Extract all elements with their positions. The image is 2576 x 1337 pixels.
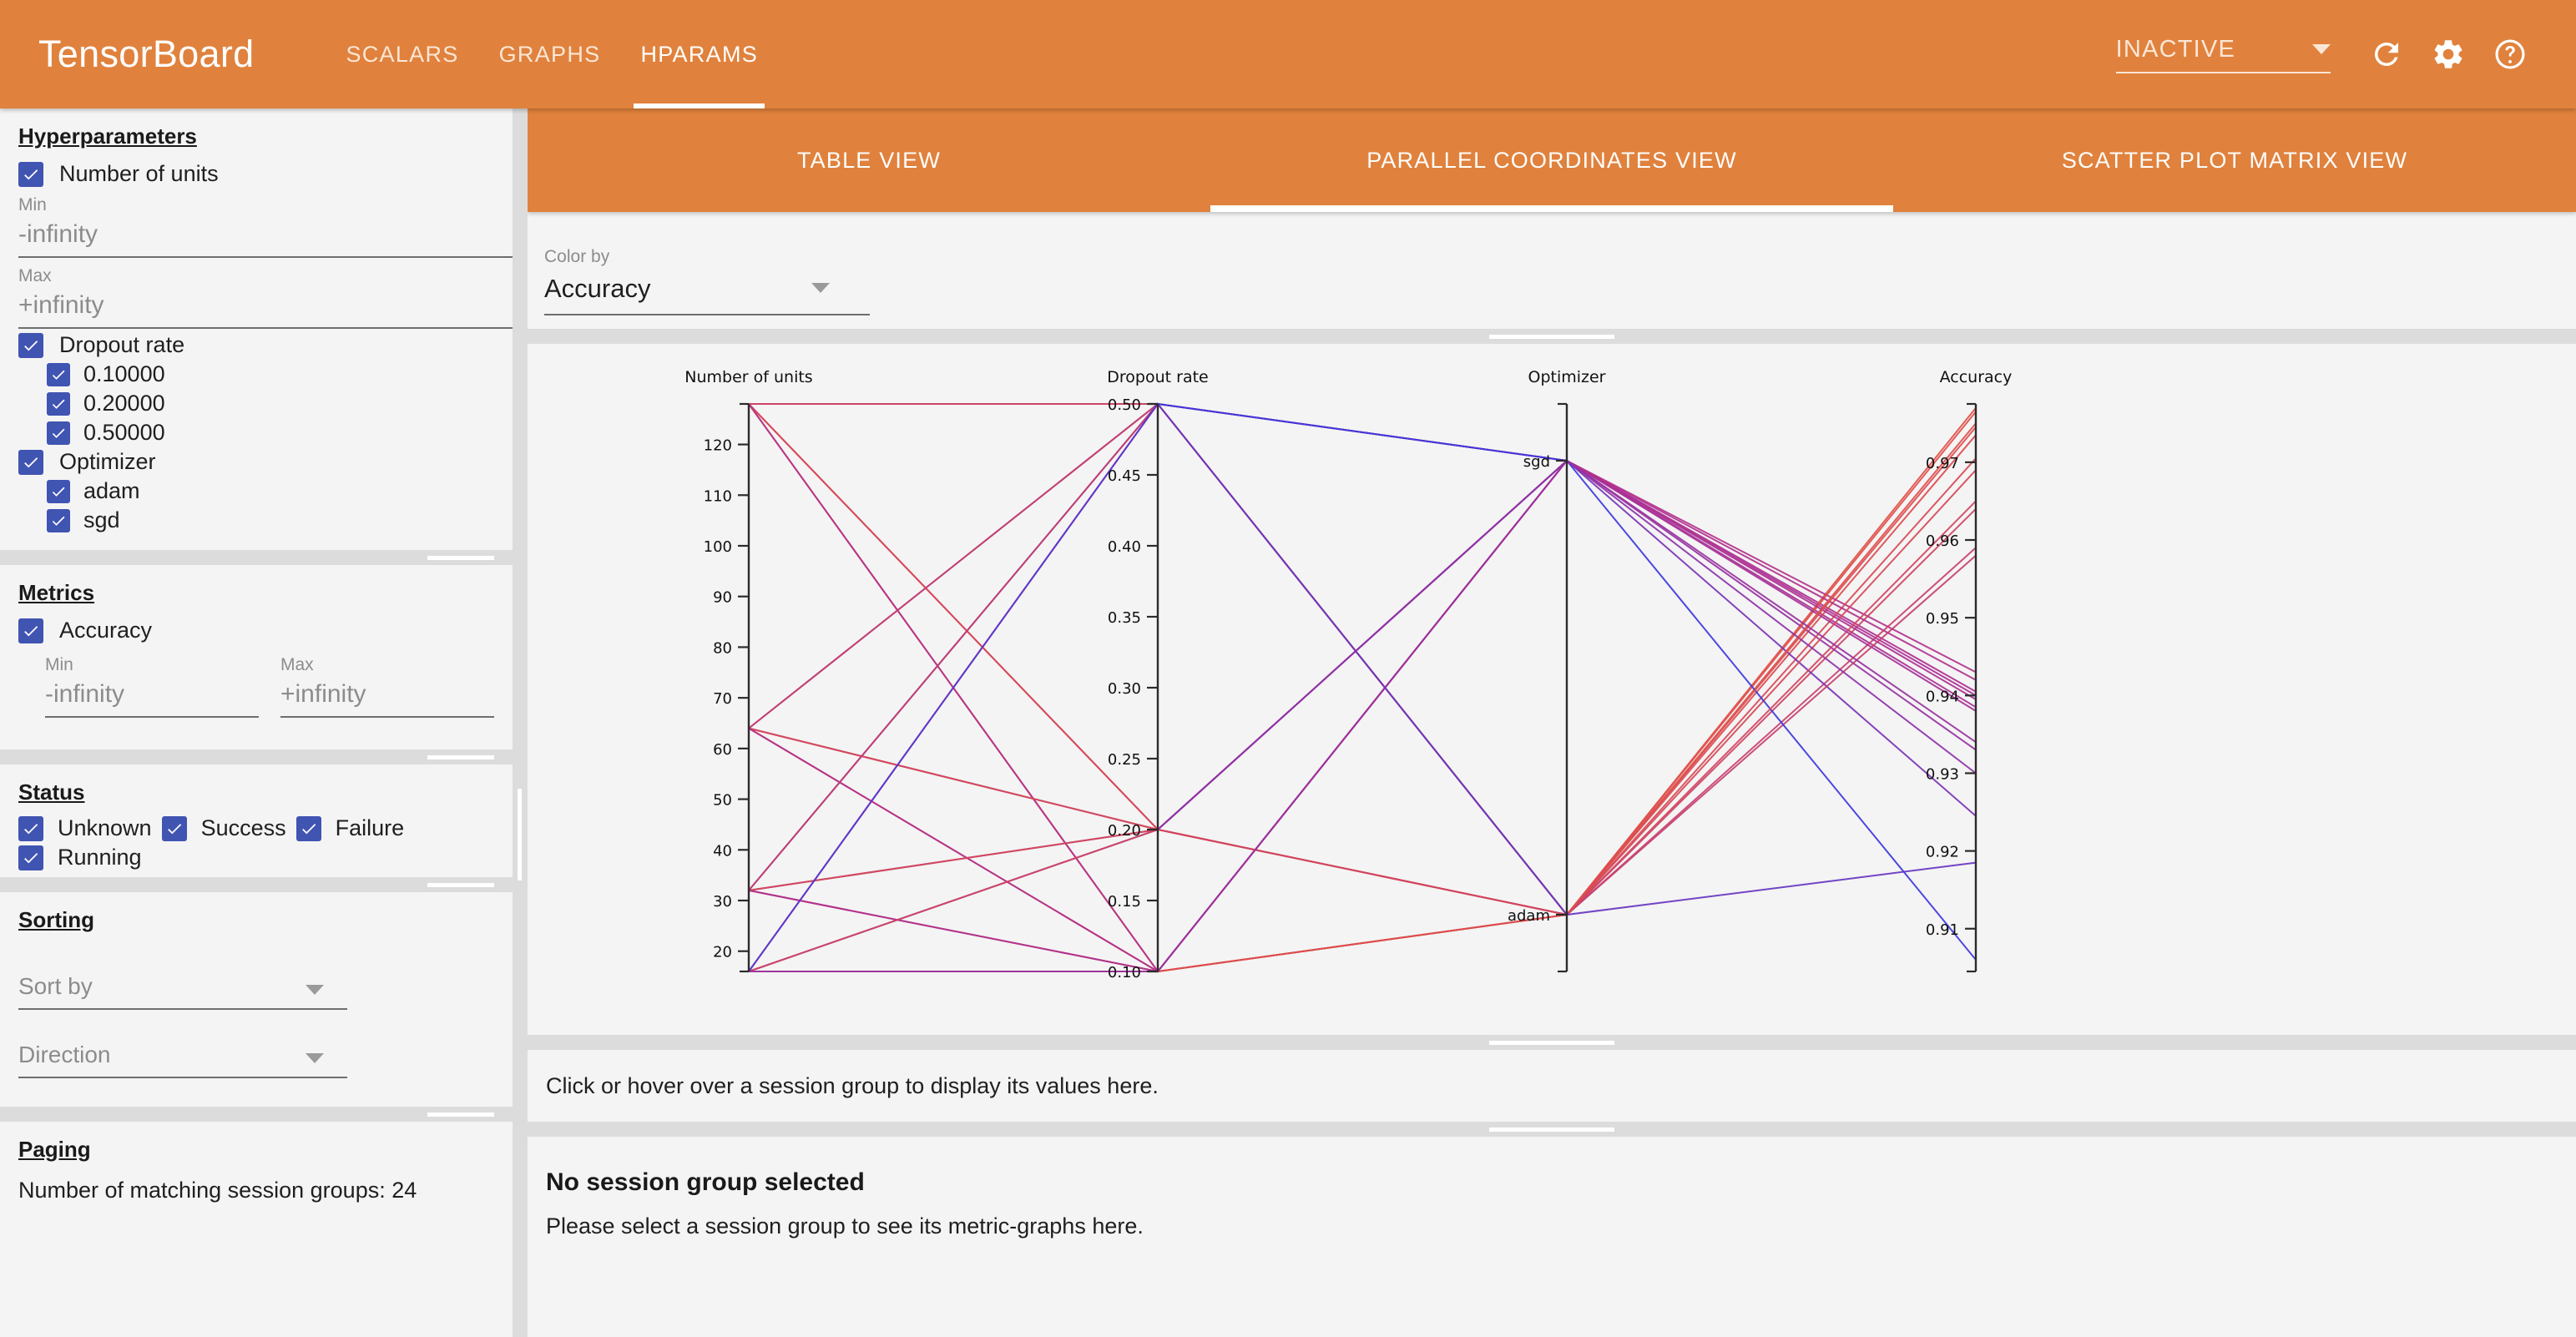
status-running[interactable]: Running [18, 845, 152, 870]
chevron-down-icon [2312, 44, 2331, 54]
checkbox-checked-icon[interactable] [18, 333, 43, 358]
pc-lines-group [749, 404, 1976, 971]
axis-title: Accuracy [1940, 368, 2013, 386]
axis-tick-label: 0.15 [1108, 893, 1141, 911]
app-brand-title: TensorBoard [38, 33, 254, 76]
accuracy-min-label: Min [45, 655, 259, 675]
checkbox-checked-icon[interactable] [47, 480, 70, 503]
main-nav-tabs: SCALARS GRAPHS HPARAMS [326, 0, 778, 108]
field-underline [18, 1008, 347, 1010]
hyperparameters-title: Hyperparameters [18, 124, 197, 149]
resize-grip [427, 556, 494, 560]
pc-line [749, 404, 1976, 830]
field-underline [18, 1077, 347, 1078]
direction-select[interactable]: Direction [18, 1042, 347, 1078]
color-by-label: Color by [544, 247, 870, 267]
status-label: Unknown [58, 815, 152, 841]
units-max-field[interactable]: Max +infinity [18, 266, 513, 329]
tab-scatter-plot-matrix-view[interactable]: SCATTER PLOT MATRIX VIEW [1893, 108, 2576, 212]
dropout-value-2[interactable]: 0.50000 [47, 420, 498, 446]
resize-grip [1489, 1128, 1614, 1132]
color-by-select[interactable]: Color by Accuracy [544, 247, 870, 315]
nav-tab-hparams[interactable]: HPARAMS [620, 0, 778, 108]
parallel-coordinates-chart[interactable]: Number of units2030405060708090100110120… [528, 344, 2576, 1035]
nav-tab-scalars[interactable]: SCALARS [326, 0, 478, 108]
session-group-heading: No session group selected [546, 1168, 2576, 1197]
pc-line [749, 404, 1976, 692]
checkbox-checked-icon[interactable] [47, 363, 70, 386]
checkbox-checked-icon[interactable] [18, 450, 43, 475]
status-failure[interactable]: Failure [296, 815, 415, 841]
paging-panel: Paging Number of matching session groups… [0, 1122, 513, 1203]
session-group-panel: No session group selected Please select … [528, 1137, 2576, 1317]
chevron-down-icon [306, 1053, 324, 1063]
field-underline [18, 256, 513, 258]
axis-title: Dropout rate [1107, 368, 1208, 386]
hparam-label: Dropout rate [59, 332, 184, 358]
accuracy-max-value: +infinity [280, 680, 494, 716]
units-max-value: +infinity [18, 291, 513, 327]
run-status-dropdown[interactable]: INACTIVE [2116, 36, 2331, 73]
panel-resize-handle[interactable] [0, 749, 513, 764]
color-by-value: Accuracy [544, 274, 870, 314]
axis-tick-label: 0.96 [1926, 532, 1959, 550]
accuracy-max-label: Max [280, 655, 494, 675]
top-bar-actions: INACTIVE [2116, 23, 2576, 85]
dropout-value-label: 0.50000 [83, 420, 165, 446]
hparam-label: Number of units [59, 161, 219, 187]
field-underline [18, 327, 513, 329]
optimizer-value-0[interactable]: adam [47, 478, 498, 504]
axis-tick-label: 0.25 [1108, 751, 1141, 769]
axis-tick-label: 0.10 [1108, 964, 1141, 981]
status-label: Failure [336, 815, 405, 841]
field-underline [45, 716, 259, 718]
pc-line [749, 423, 1976, 971]
axis-tick-label: 0.95 [1926, 610, 1959, 628]
sorting-title: Sorting [18, 907, 94, 933]
optimizer-value-1[interactable]: sgd [47, 507, 498, 533]
accuracy-min-field[interactable]: Min -infinity [45, 655, 259, 718]
axis-tick-label: 0.94 [1926, 688, 1959, 705]
units-max-label: Max [18, 266, 513, 286]
tab-parallel-coordinates-view[interactable]: PARALLEL COORDINATES VIEW [1210, 108, 1893, 212]
checkbox-checked-icon[interactable] [47, 421, 70, 445]
paging-title: Paging [18, 1137, 91, 1163]
axis-tick-label: 80 [713, 639, 732, 657]
session-values-panel: Click or hover over a session group to d… [528, 1050, 2576, 1122]
session-panel-resize-handle[interactable] [528, 1122, 2576, 1137]
gear-icon[interactable] [2417, 23, 2479, 85]
status-label: Running [58, 845, 142, 870]
axis-tick-label: 60 [713, 741, 732, 759]
resize-grip [427, 755, 494, 759]
metrics-panel: Metrics Accuracy Min -infinity Max +infi… [0, 565, 513, 749]
reload-icon[interactable] [2356, 23, 2417, 85]
resize-grip [518, 789, 522, 880]
checkbox-checked-icon[interactable] [296, 816, 321, 841]
pc-axis: Number of units2030405060708090100110120 [684, 368, 812, 971]
optimizer-value-label: adam [83, 478, 140, 504]
axis-tick-label: 90 [713, 589, 732, 607]
resize-grip [1489, 1041, 1614, 1045]
axis-tick-label: 0.91 [1926, 921, 1959, 939]
axis-tick-label: 0.20 [1108, 822, 1141, 840]
axis-tick-label: 0.97 [1926, 455, 1959, 472]
chart-panel-resize-handle[interactable] [528, 329, 2576, 344]
pc-line [749, 427, 1976, 971]
optimizer-value-label: sgd [83, 507, 120, 533]
axis-tick-label: 0.45 [1108, 467, 1141, 485]
panel-resize-handle[interactable] [0, 1107, 513, 1122]
axis-tick-label: 0.50 [1108, 396, 1141, 414]
axis-tick-label: 30 [713, 893, 732, 911]
field-underline [280, 716, 494, 718]
color-by-bar: Color by Accuracy [528, 212, 2576, 329]
status-checkbox-row: Unknown Success Failure [18, 814, 498, 872]
sorting-panel: Sorting Sort by Direction [0, 892, 513, 1107]
axis-tick-label: 20 [713, 944, 732, 961]
checkbox-checked-icon[interactable] [18, 816, 43, 841]
hparam-dropout-rate[interactable]: Dropout rate [18, 332, 498, 358]
sidebar-resize-divider[interactable] [513, 108, 528, 1337]
dropout-value-label: 0.20000 [83, 391, 165, 416]
metric-range-row: Min -infinity Max +infinity [45, 647, 498, 719]
parallel-coordinates-svg[interactable]: Number of units2030405060708090100110120… [528, 344, 2576, 1035]
units-min-label: Min [18, 195, 513, 215]
checkbox-checked-icon[interactable] [18, 618, 43, 643]
axis-tick-label: 100 [704, 538, 732, 556]
status-title: Status [18, 779, 84, 805]
help-icon[interactable] [2479, 23, 2541, 85]
axis-tick-label: 0.92 [1926, 844, 1959, 861]
resize-grip [1489, 335, 1614, 339]
status-success[interactable]: Success [162, 815, 296, 841]
axis-category-label: sgd [1523, 453, 1550, 471]
hyperparameters-panel: Hyperparameters Number of units Min -inf… [0, 108, 513, 550]
units-min-field[interactable]: Min -infinity [18, 195, 513, 258]
hparam-number-of-units[interactable]: Number of units [18, 161, 498, 187]
resize-grip [427, 883, 494, 887]
axis-tick-label: 70 [713, 690, 732, 708]
hparam-optimizer[interactable]: Optimizer [18, 449, 498, 475]
sort-by-select[interactable]: Sort by [18, 973, 347, 1010]
checkbox-checked-icon[interactable] [18, 162, 43, 187]
nav-tab-graphs[interactable]: GRAPHS [479, 0, 621, 108]
dropout-value-label: 0.10000 [83, 361, 165, 387]
direction-placeholder: Direction [18, 1042, 347, 1077]
accuracy-max-field[interactable]: Max +infinity [280, 655, 494, 718]
dropout-value-0[interactable]: 0.10000 [47, 361, 498, 387]
dropout-value-1[interactable]: 0.20000 [47, 391, 498, 416]
pc-line [749, 461, 1976, 890]
field-underline [544, 314, 870, 315]
view-tabs: TABLE VIEW PARALLEL COORDINATES VIEW SCA… [528, 108, 2576, 212]
axis-title: Optimizer [1528, 368, 1605, 386]
axis-category-label: adam [1508, 907, 1550, 925]
tab-table-view[interactable]: TABLE VIEW [528, 108, 1210, 212]
panel-resize-handle[interactable] [0, 550, 513, 565]
axis-tick-label: 0.93 [1926, 765, 1959, 783]
metric-label: Accuracy [59, 618, 152, 643]
session-group-subtext: Please select a session group to see its… [546, 1213, 2576, 1239]
status-unknown[interactable]: Unknown [18, 815, 162, 841]
top-app-bar: TensorBoard SCALARS GRAPHS HPARAMS INACT… [0, 0, 2576, 108]
matching-session-groups-count: Number of matching session groups: 24 [18, 1178, 498, 1203]
accuracy-min-value: -infinity [45, 680, 259, 716]
checkbox-checked-icon[interactable] [162, 816, 187, 841]
tensorboard-app: TensorBoard SCALARS GRAPHS HPARAMS INACT… [0, 0, 2576, 1337]
axis-title: Number of units [684, 368, 812, 386]
status-label: Success [201, 815, 286, 841]
units-min-value: -infinity [18, 220, 513, 256]
chevron-down-icon [306, 985, 324, 995]
metric-accuracy[interactable]: Accuracy [18, 618, 498, 643]
axis-tick-label: 110 [704, 487, 732, 505]
axis-tick-label: 40 [713, 842, 732, 860]
checkbox-checked-icon[interactable] [47, 509, 70, 532]
run-status-value: INACTIVE [2116, 36, 2235, 63]
main-content: TABLE VIEW PARALLEL COORDINATES VIEW SCA… [528, 108, 2576, 1337]
status-panel: Status Unknown Success [0, 764, 513, 877]
chevron-down-icon [811, 283, 830, 293]
metrics-title: Metrics [18, 580, 94, 606]
axis-tick-label: 50 [713, 792, 732, 810]
resize-grip [427, 1112, 494, 1117]
dropdown-underline [2116, 72, 2331, 73]
checkbox-checked-icon[interactable] [18, 845, 43, 870]
hover-panel-resize-handle[interactable] [528, 1035, 2576, 1050]
pc-axis: Dropout rate0.100.150.200.250.300.350.40… [1107, 368, 1208, 981]
left-sidebar: Hyperparameters Number of units Min -inf… [0, 108, 513, 1337]
panel-resize-handle[interactable] [0, 877, 513, 892]
checkbox-checked-icon[interactable] [47, 392, 70, 416]
hparam-label: Optimizer [59, 449, 156, 475]
hover-hint-text: Click or hover over a session group to d… [546, 1073, 1159, 1099]
axis-tick-label: 120 [704, 437, 732, 455]
axis-tick-label: 0.35 [1108, 609, 1141, 627]
sort-by-placeholder: Sort by [18, 973, 347, 1008]
axis-tick-label: 0.40 [1108, 538, 1141, 556]
axis-tick-label: 0.30 [1108, 680, 1141, 698]
